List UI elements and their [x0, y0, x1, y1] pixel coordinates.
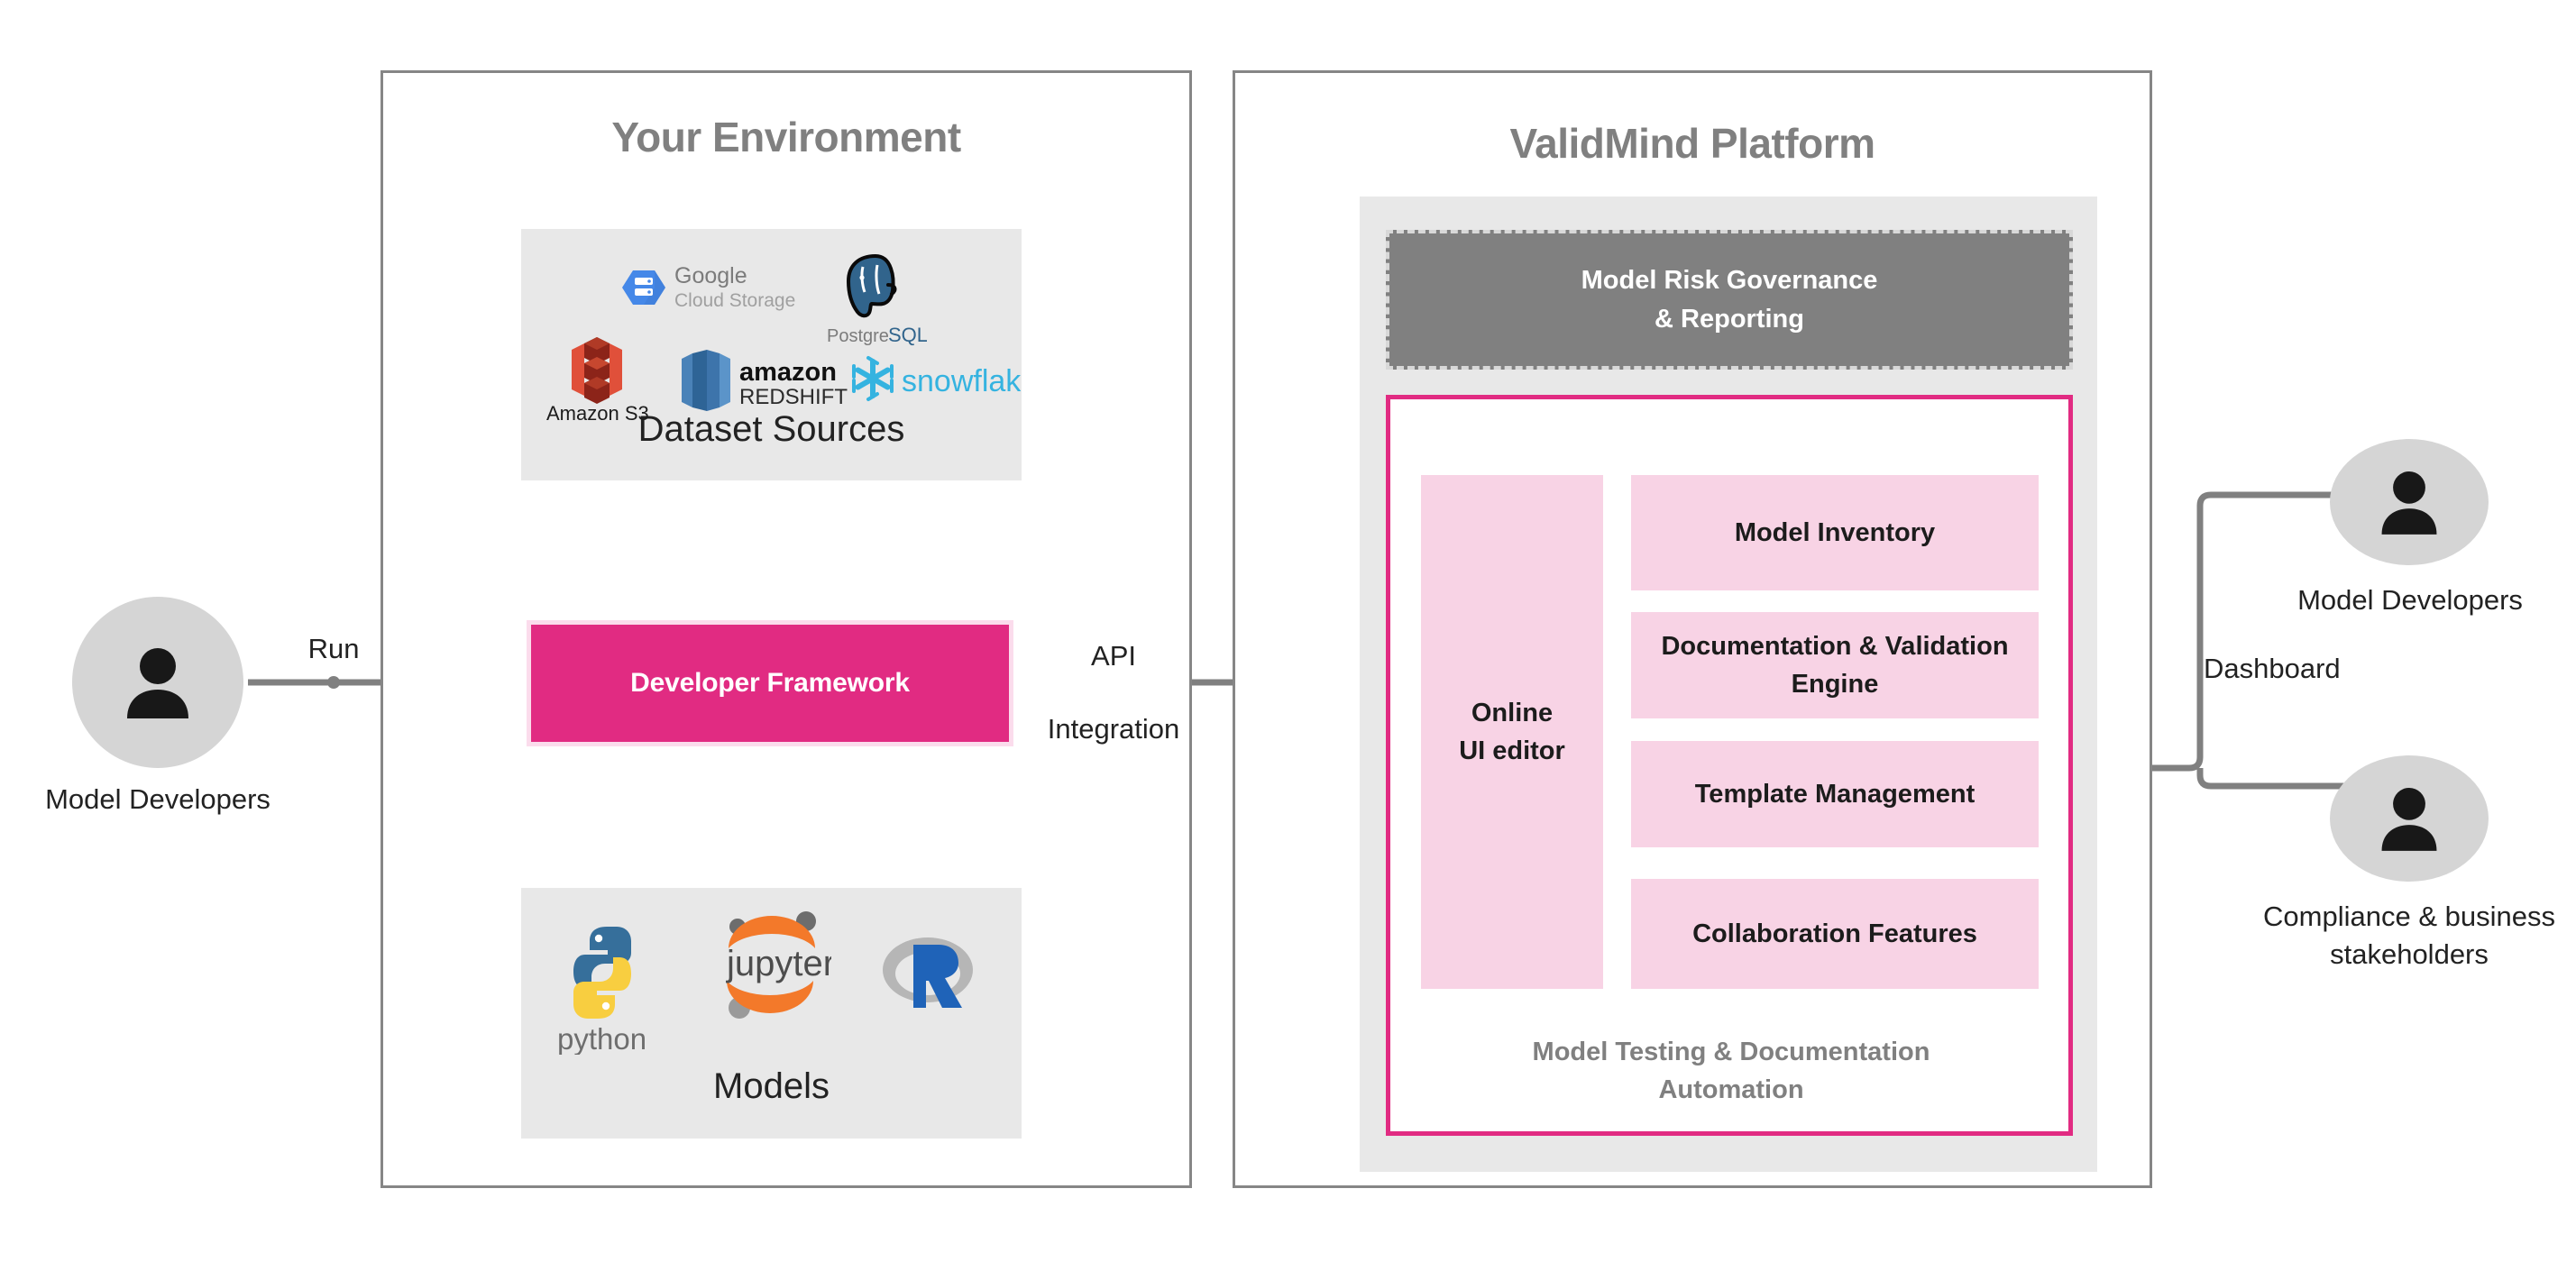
actor-model-developers-left[interactable] [72, 597, 243, 768]
feature-box-model-inventory[interactable]: Model Inventory [1631, 475, 2039, 590]
snowflake-wordmark: snowflake [902, 364, 1021, 398]
model-risk-governance-label: Model Risk Governance & Reporting [1581, 261, 1878, 337]
google-cloud-storage-logo: Google Cloud Storage [620, 260, 801, 315]
postgresql-logo: Postgre SQL [823, 252, 927, 346]
edge-label-api-integration: API Integration [1010, 602, 1217, 747]
r-logo [879, 928, 978, 1017]
governance-line-2: & Reporting [1655, 305, 1804, 334]
your-environment-title: Your Environment [380, 113, 1192, 161]
feature-box-documentation-validation-engine[interactable]: Documentation & Validation Engine [1631, 612, 2039, 718]
actor-label-compliance-stakeholders: Compliance & business stakeholders [2252, 898, 2566, 974]
feature-label-template-management: Template Management [1688, 775, 1982, 813]
google-wordmark: Google [674, 263, 747, 288]
redshift-wordmark: REDSHIFT [739, 385, 848, 409]
snowflake-logo: snowflake [848, 352, 1021, 406]
edge-dashboard-stakeholders [2200, 768, 2344, 786]
online-ui-editor-box[interactable]: Online UI editor [1421, 475, 1603, 989]
automation-caption: Model Testing & Documentation Automation [1407, 1033, 2056, 1109]
jupyter-wordmark: jupyter [726, 944, 831, 983]
edge-label-dashboard: Dashboard [2204, 651, 2429, 687]
sql-wordmark: SQL [888, 324, 927, 346]
feature-label-model-inventory: Model Inventory [1728, 514, 1942, 552]
feature-box-collaboration-features[interactable]: Collaboration Features [1631, 879, 2039, 989]
automation-caption-line-1: Model Testing & Documentation [1533, 1038, 1930, 1066]
models-caption: Models [521, 1066, 1022, 1107]
feature-box-template-management[interactable]: Template Management [1631, 741, 2039, 847]
architecture-diagram: Your Environment Dataset Sources Google … [0, 0, 2576, 1262]
validmind-platform-title: ValidMind Platform [1233, 119, 2152, 168]
governance-line-1: Model Risk Governance [1581, 266, 1878, 295]
actor-compliance-stakeholders[interactable] [2330, 755, 2489, 882]
person-icon [2370, 463, 2448, 541]
model-risk-governance-box[interactable]: Model Risk Governance & Reporting [1386, 230, 2073, 370]
api-integration-line-2: Integration [1048, 713, 1180, 745]
amazon-redshift-logo: amazon REDSHIFT [674, 350, 851, 411]
person-icon [2370, 780, 2448, 857]
developer-framework-box[interactable]: Developer Framework [527, 620, 1013, 746]
actor-model-developers-right[interactable] [2330, 439, 2489, 565]
jupyter-logo: jupyter [712, 903, 831, 1028]
postgre-wordmark: Postgre [827, 326, 889, 346]
edge-label-run: Run [252, 631, 415, 667]
cloud-storage-wordmark: Cloud Storage [674, 290, 795, 311]
python-wordmark: python [557, 1022, 646, 1055]
ui-editor-line-1: Online [1471, 699, 1553, 727]
amazon-s3-logo: Amazon S3 [545, 335, 653, 424]
developer-framework-label: Developer Framework [630, 668, 910, 699]
person-icon [115, 639, 201, 726]
actor-label-model-developers-right: Model Developers [2281, 581, 2539, 619]
automation-caption-line-2: Automation [1658, 1075, 1803, 1104]
edge-run-midpoint [327, 676, 340, 689]
api-integration-line-1: API [1091, 640, 1136, 672]
online-ui-editor-label: Online UI editor [1459, 694, 1565, 770]
feature-label-collaboration-features: Collaboration Features [1685, 915, 1985, 953]
ui-editor-line-2: UI editor [1459, 736, 1565, 765]
actor-label-model-developers-left: Model Developers [16, 781, 299, 818]
amazon-wordmark: amazon [739, 358, 837, 387]
amazon-s3-wordmark: Amazon S3 [546, 402, 649, 424]
python-logo: python [552, 919, 664, 1055]
feature-label-documentation-validation-engine: Documentation & Validation Engine [1631, 627, 2039, 703]
